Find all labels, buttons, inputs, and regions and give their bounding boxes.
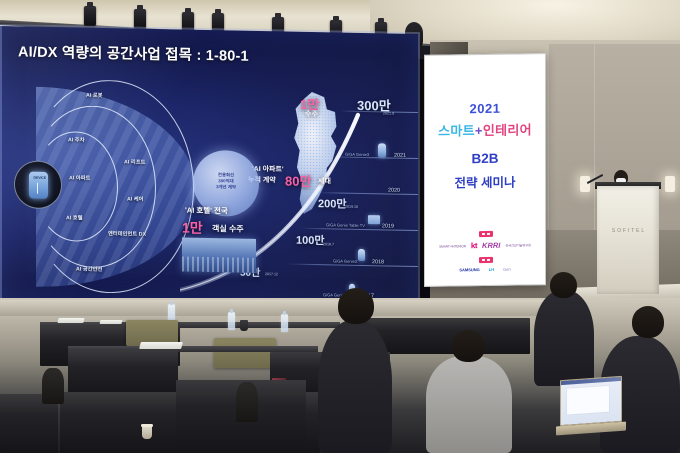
product-label-table-tv: GiGA Genie Table TV [326, 222, 365, 228]
audience-person [318, 320, 392, 453]
logo-kict: 한국건설기술연구원 [505, 242, 531, 247]
logo-gen: Gen [503, 267, 511, 272]
giga-genie2-icon [358, 249, 365, 261]
laptop-document [567, 386, 609, 415]
stage-light-icon [84, 6, 96, 26]
podium-brand-text: SOFITEL [603, 228, 655, 234]
chart-year-2021: 2021 [394, 153, 406, 159]
conference-table [68, 350, 178, 398]
audience-head [338, 288, 374, 324]
logo-row-primary: SMART+INTERIOR kt KRRI 한국건설기술연구원 [425, 240, 545, 251]
audience-person-light-jacket [426, 356, 512, 453]
fan-segment-label-apartment: AI 아파트 [69, 174, 91, 181]
stage-light-icon [134, 9, 146, 29]
logo-divider-icon [479, 231, 493, 237]
water-bottle [228, 312, 235, 330]
audience-chair [214, 338, 276, 368]
chart-gridline [300, 228, 418, 231]
logo-samsung: SAMSUNG [459, 267, 479, 272]
logo-krri: KRRI [482, 241, 500, 250]
document-on-table [139, 342, 183, 349]
audience-head [550, 272, 577, 298]
chart-date-2021-9: 2021.9 [383, 111, 394, 115]
callout-ai-hotel-line1: 'AI 호텔' 전국 [185, 205, 228, 217]
callout-ai-hotel-line2: 객실 수주 [212, 223, 244, 235]
chart-date-2019-10: 2019.10 [345, 205, 358, 209]
fan-segment-label-space-safety: AI 공간안전 [76, 265, 102, 273]
giga-genie-table-tv-icon [368, 215, 380, 224]
side-vertical-screen: 2021 스마트+인테리어 B2B 전략 세미나 SMART+INTERIOR … [424, 53, 546, 287]
callout-ai-apartment-value: 80만 [285, 170, 311, 190]
logo-divider-icon [479, 257, 493, 263]
side-screen-smart-interior: 스마트+인테리어 [425, 119, 545, 140]
chart-year-2019: 2019 [382, 223, 394, 229]
handbag [236, 382, 258, 422]
wall-light-slit [580, 176, 590, 192]
handbag [42, 368, 64, 404]
bubble-line2: 300억대 [218, 178, 233, 183]
fan-segment-label-care: AI 케어 [127, 195, 144, 202]
device-label: DEVICE [34, 175, 47, 179]
water-bottle [281, 314, 288, 332]
fan-segment-label-entertainment: 엔터테인먼트 DX [108, 230, 146, 238]
logo-lh: LH [489, 267, 494, 272]
contract-bubble-text: 전용회선 300억대 3개년 계약 [193, 172, 259, 191]
wall-light-slit [665, 176, 675, 192]
coffee-cup [240, 320, 248, 331]
chart-date-2017-12: 2017.12 [265, 272, 278, 276]
interior-word: 인테리어 [483, 122, 532, 138]
product-label-genie3: GiGA Genie3 [345, 152, 369, 157]
plus-sign: + [475, 123, 483, 138]
fan-segment-label-hotel: AI 호텔 [66, 214, 83, 221]
chart-year-2018: 2018 [372, 259, 384, 265]
screenshot-root: AI/DX 역량의 공간사업 접목 : 1-80-1 AI 로봇 AI 주차 A… [0, 0, 680, 453]
fan-diagram: AI 로봇 AI 주차 AI 아파트 AI 리프트 AI 케어 AI 호텔 엔터… [8, 78, 198, 297]
side-screen-year: 2021 [425, 100, 545, 117]
fan-segment-label-lift: AI 리프트 [124, 158, 146, 165]
fan-segment-label-parking: AI 주차 [68, 136, 85, 143]
bubble-line1: 전용회선 [218, 172, 234, 177]
audience-head [452, 330, 485, 362]
laptop-screen [560, 376, 622, 426]
audience-head [632, 306, 664, 338]
main-presentation-screen: AI/DX 역량의 공간사업 접목 : 1-80-1 AI 로봇 AI 주차 A… [0, 26, 418, 306]
callout-ai-apartment-line3: 세대 [318, 176, 331, 186]
logo-kt: kt [471, 241, 477, 250]
document-on-table [57, 318, 84, 323]
podium [597, 186, 659, 294]
chart-date-2018-7: 2018.7 [323, 242, 334, 246]
chart-value-100: 100만 [296, 232, 324, 249]
drinking-glass [142, 426, 152, 439]
side-screen-b2b: B2B [425, 150, 545, 167]
bubble-line3: 3개년 계약 [216, 184, 236, 189]
fan-center-device: DEVICE [14, 160, 62, 209]
callout-ai-hotel-value: 1만 [182, 217, 203, 237]
carpet-band [0, 300, 560, 316]
chart-value-200: 200만 [318, 195, 346, 212]
map-callout-suju: 수주 [305, 109, 318, 119]
audience-person [534, 290, 594, 386]
chart-gridline [286, 263, 418, 267]
logo-smart-interior: SMART+INTERIOR [439, 244, 466, 248]
hotel-photo-thumbnail [182, 237, 256, 272]
side-screen-strategy: 전략 세미나 [425, 171, 545, 192]
document-on-table [100, 320, 123, 324]
smart-word: 스마트 [438, 123, 475, 139]
giga-genie3-icon [378, 143, 386, 157]
fan-segment-label-robot: AI 로봇 [86, 92, 103, 99]
logo-row-secondary: SAMSUNG LH Gen [425, 266, 545, 273]
slide-title: AI/DX 역량의 공간사업 접목 : 1-80-1 [18, 40, 249, 65]
product-label-genie2: GiGA Genie2 [333, 258, 357, 263]
device-icon: DEVICE [29, 171, 48, 198]
chart-year-2020: 2020 [388, 187, 400, 193]
